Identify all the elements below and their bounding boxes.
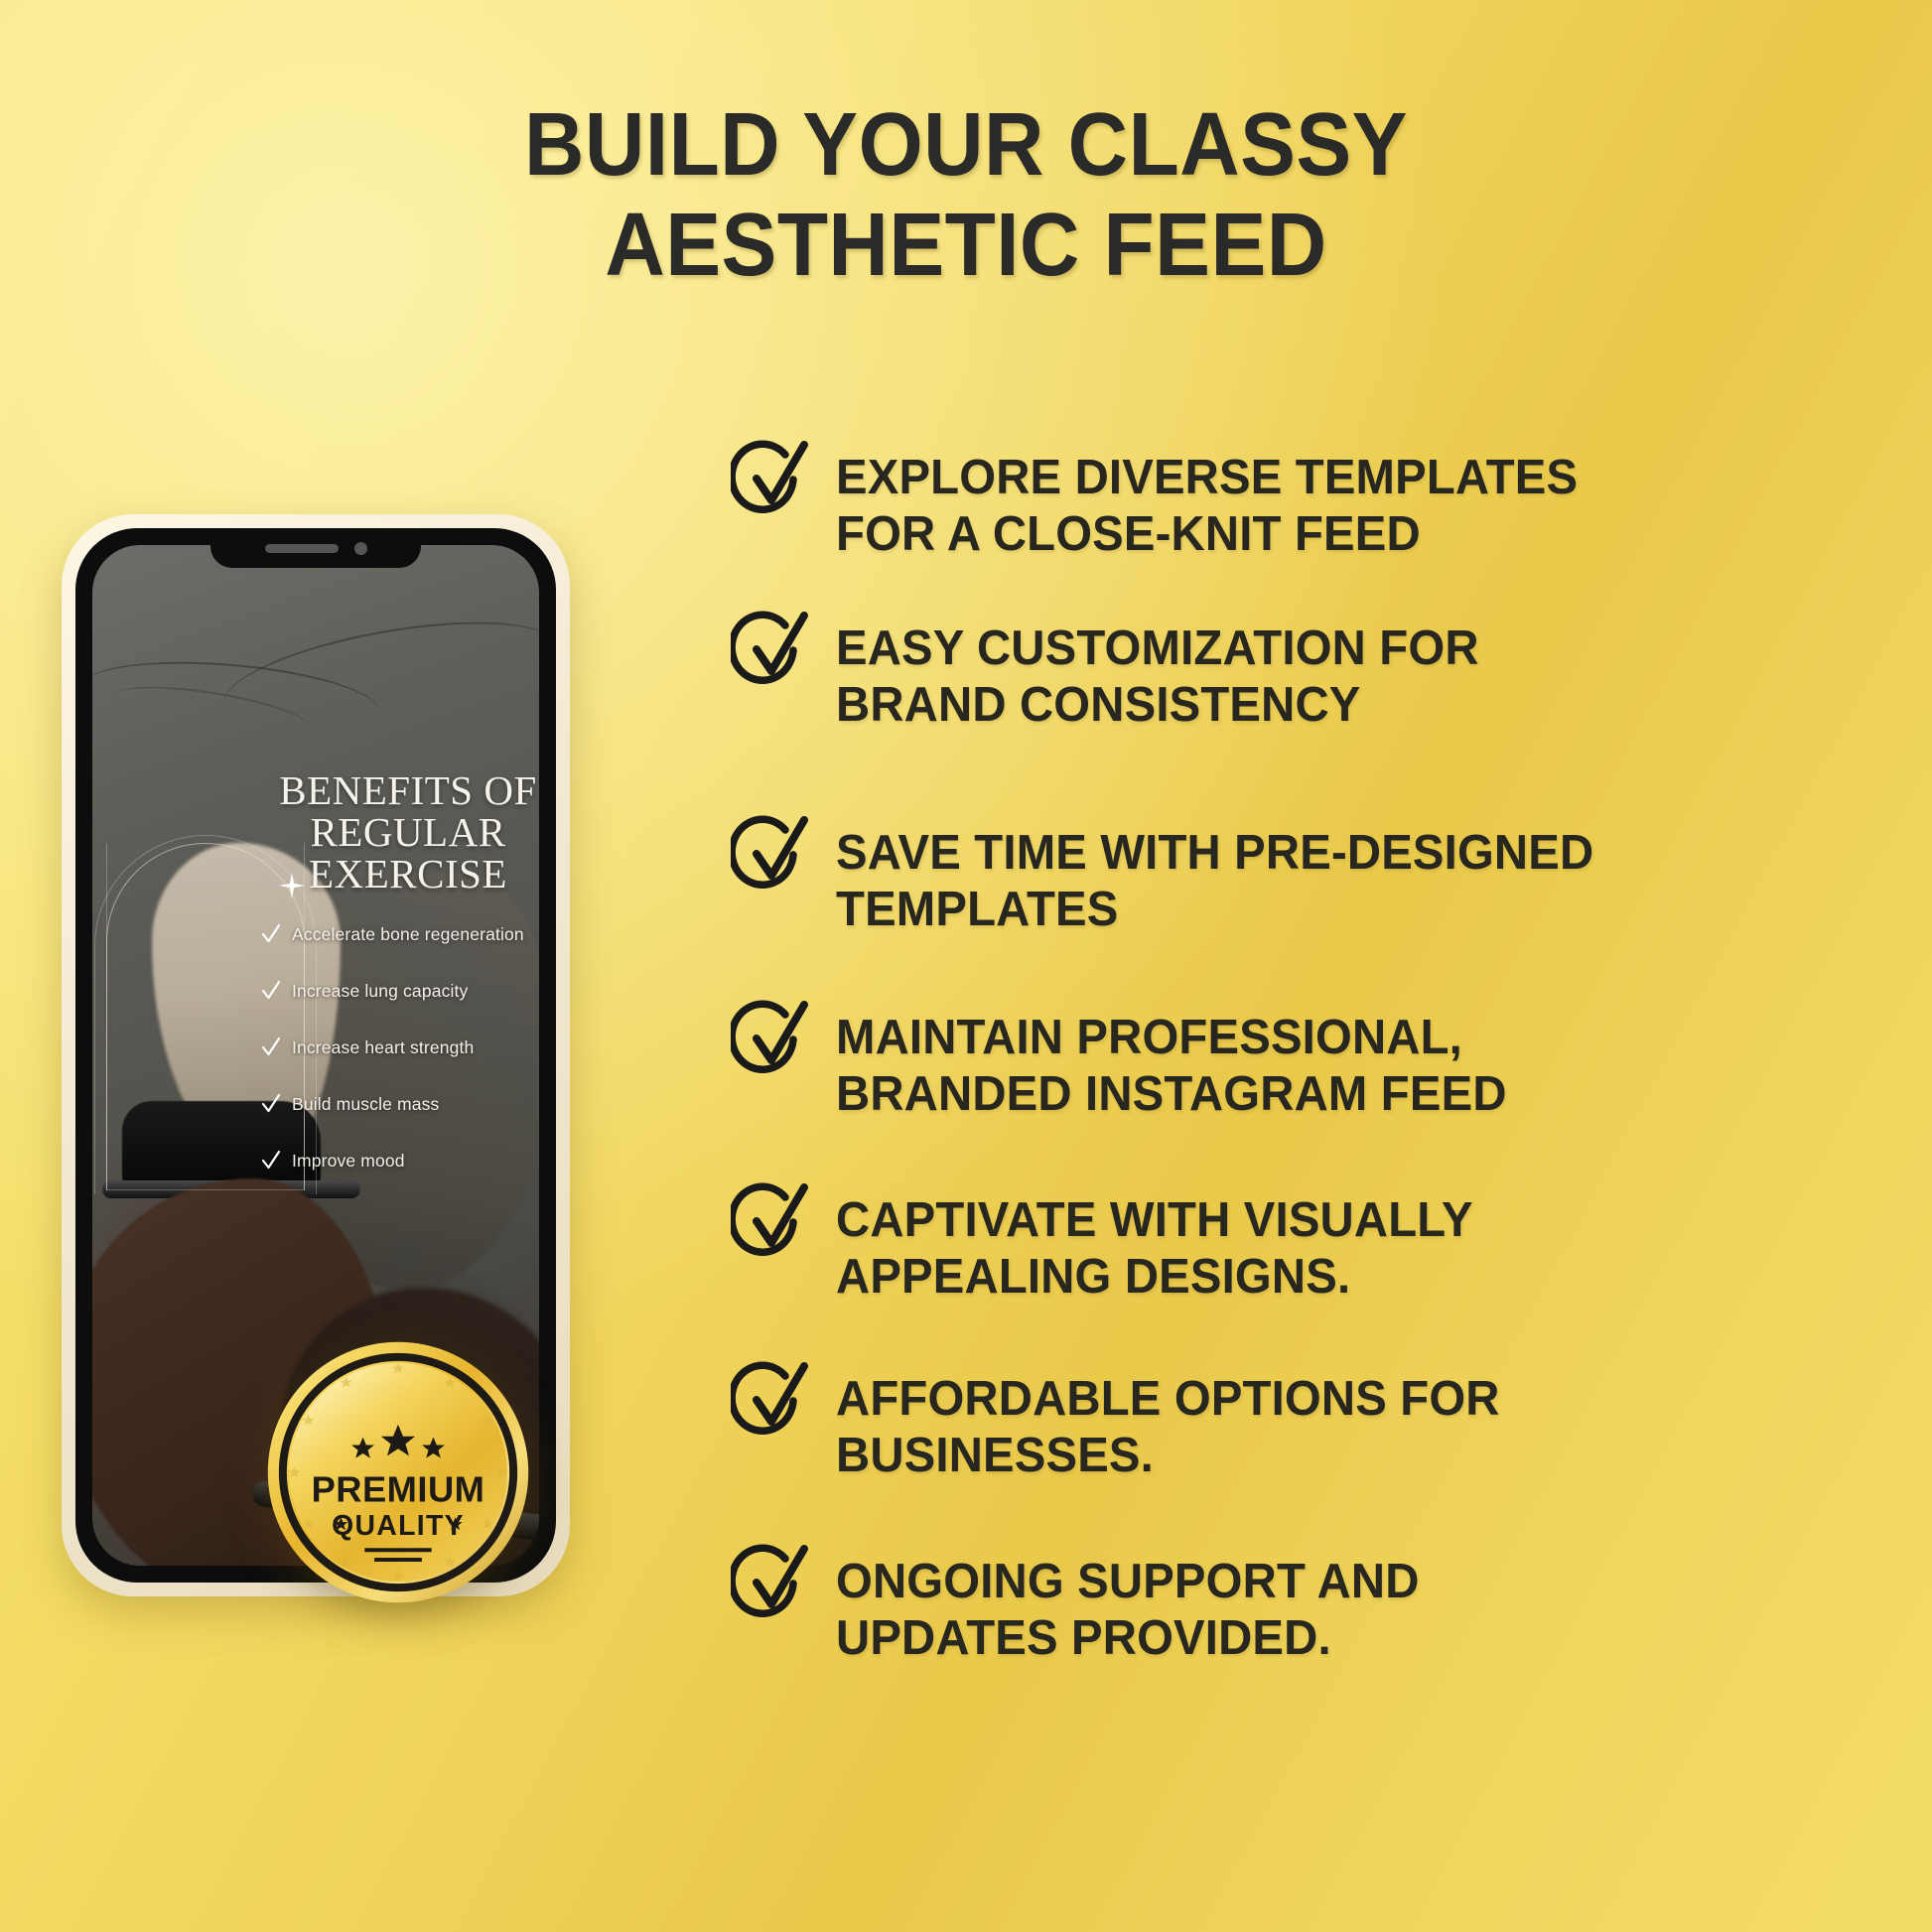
- page-title-line-1: BUILD YOUR CLASSY: [68, 95, 1864, 196]
- poster-title-line-1: BENEFITS OF: [259, 769, 539, 811]
- list-item: Increase lung capacity: [261, 979, 539, 1003]
- list-item: Improve mood: [261, 1149, 539, 1173]
- list-item-label: Build muscle mass: [292, 1094, 439, 1115]
- benefit-item-4-line-1: MAINTAIN PROFESSIONAL,: [836, 1009, 1507, 1065]
- phone-notch: [210, 528, 421, 568]
- check-icon: [261, 1092, 281, 1116]
- check-icon: [261, 979, 281, 1003]
- check-circle-icon: [731, 606, 812, 697]
- earpiece-speaker-icon: [265, 544, 339, 553]
- benefit-item-2: EASY CUSTOMIZATION FOR BRAND CONSISTENCY: [735, 620, 1509, 734]
- benefit-item-1-line-2: FOR A CLOSE-KNIT FEED: [836, 505, 1578, 562]
- poster-title-line-3: EXERCISE: [259, 853, 539, 895]
- list-item-label: Accelerate bone regeneration: [292, 924, 524, 945]
- benefit-item-5-text: CAPTIVATE WITH VISUALLY APPEALING DESIGN…: [836, 1191, 1473, 1306]
- benefit-item-7-line-1: ONGOING SUPPORT AND: [836, 1553, 1420, 1609]
- page-title-line-2: AESTHETIC FEED: [68, 196, 1864, 296]
- benefit-item-7-line-2: UPDATES PROVIDED.: [836, 1609, 1420, 1666]
- check-circle-icon: [731, 1539, 812, 1630]
- benefit-item-6-line-2: BUSINESSES.: [836, 1427, 1500, 1483]
- poster-title: BENEFITS OF REGULAR EXERCISE: [259, 769, 539, 896]
- benefit-item-5: CAPTIVATE WITH VISUALLY APPEALING DESIGN…: [735, 1191, 1503, 1306]
- benefit-item-6-line-1: AFFORDABLE OPTIONS FOR: [836, 1370, 1500, 1427]
- list-item: Increase heart strength: [261, 1035, 539, 1059]
- benefit-item-4-text: MAINTAIN PROFESSIONAL, BRANDED INSTAGRAM…: [836, 1009, 1507, 1123]
- benefit-item-5-line-2: APPEALING DESIGNS.: [836, 1248, 1473, 1305]
- benefit-item-3-text: SAVE TIME WITH PRE-DESIGNED TEMPLATES: [836, 824, 1593, 938]
- check-circle-icon: [731, 435, 812, 526]
- check-circle-icon: [731, 810, 812, 901]
- benefit-item-1-text: EXPLORE DIVERSE TEMPLATES FOR A CLOSE-KN…: [836, 449, 1578, 563]
- benefit-item-4-line-2: BRANDED INSTAGRAM FEED: [836, 1065, 1507, 1122]
- check-circle-icon: [731, 1356, 812, 1448]
- benefit-item-7: ONGOING SUPPORT AND UPDATES PROVIDED.: [735, 1553, 1447, 1667]
- list-item-label: Increase heart strength: [292, 1037, 474, 1058]
- list-item: Accelerate bone regeneration: [261, 922, 539, 946]
- poster-benefit-list: Accelerate bone regeneration Increase lu…: [261, 922, 539, 1205]
- benefit-item-3: SAVE TIME WITH PRE-DESIGNED TEMPLATES: [735, 824, 1629, 938]
- benefit-item-3-line-2: TEMPLATES: [836, 881, 1593, 937]
- benefit-item-5-line-1: CAPTIVATE WITH VISUALLY: [836, 1191, 1473, 1248]
- benefit-item-2-line-2: BRAND CONSISTENCY: [836, 676, 1479, 733]
- benefit-item-2-text: EASY CUSTOMIZATION FOR BRAND CONSISTENCY: [836, 620, 1479, 734]
- badge-premium-label: PREMIUM: [312, 1468, 485, 1509]
- premium-quality-badge: PREMIUM QUALITY: [266, 1340, 530, 1604]
- check-circle-icon: [731, 995, 812, 1086]
- benefit-item-6: AFFORDABLE OPTIONS FOR BUSINESSES.: [735, 1370, 1531, 1484]
- front-camera-icon: [354, 542, 367, 555]
- benefit-item-1: EXPLORE DIVERSE TEMPLATES FOR A CLOSE-KN…: [735, 449, 1612, 563]
- benefit-item-4: MAINTAIN PROFESSIONAL, BRANDED INSTAGRAM…: [735, 1009, 1538, 1123]
- list-item: Build muscle mass: [261, 1092, 539, 1116]
- check-icon: [261, 922, 281, 946]
- check-icon: [261, 1035, 281, 1059]
- benefit-item-7-text: ONGOING SUPPORT AND UPDATES PROVIDED.: [836, 1553, 1420, 1667]
- badge-rule-long: [364, 1548, 431, 1552]
- badge-quality-label: QUALITY: [332, 1510, 465, 1542]
- check-circle-icon: [731, 1177, 812, 1269]
- benefit-item-1-line-1: EXPLORE DIVERSE TEMPLATES: [836, 449, 1578, 505]
- list-item-label: Increase lung capacity: [292, 981, 468, 1002]
- benefit-item-3-line-1: SAVE TIME WITH PRE-DESIGNED: [836, 824, 1593, 881]
- benefit-item-6-text: AFFORDABLE OPTIONS FOR BUSINESSES.: [836, 1370, 1500, 1484]
- badge-rule-short: [374, 1558, 422, 1562]
- page-title: BUILD YOUR CLASSY AESTHETIC FEED: [68, 95, 1864, 296]
- check-icon: [261, 1149, 281, 1173]
- poster-title-line-2: REGULAR: [259, 811, 539, 853]
- benefit-item-2-line-1: EASY CUSTOMIZATION FOR: [836, 620, 1479, 676]
- list-item-label: Improve mood: [292, 1151, 405, 1172]
